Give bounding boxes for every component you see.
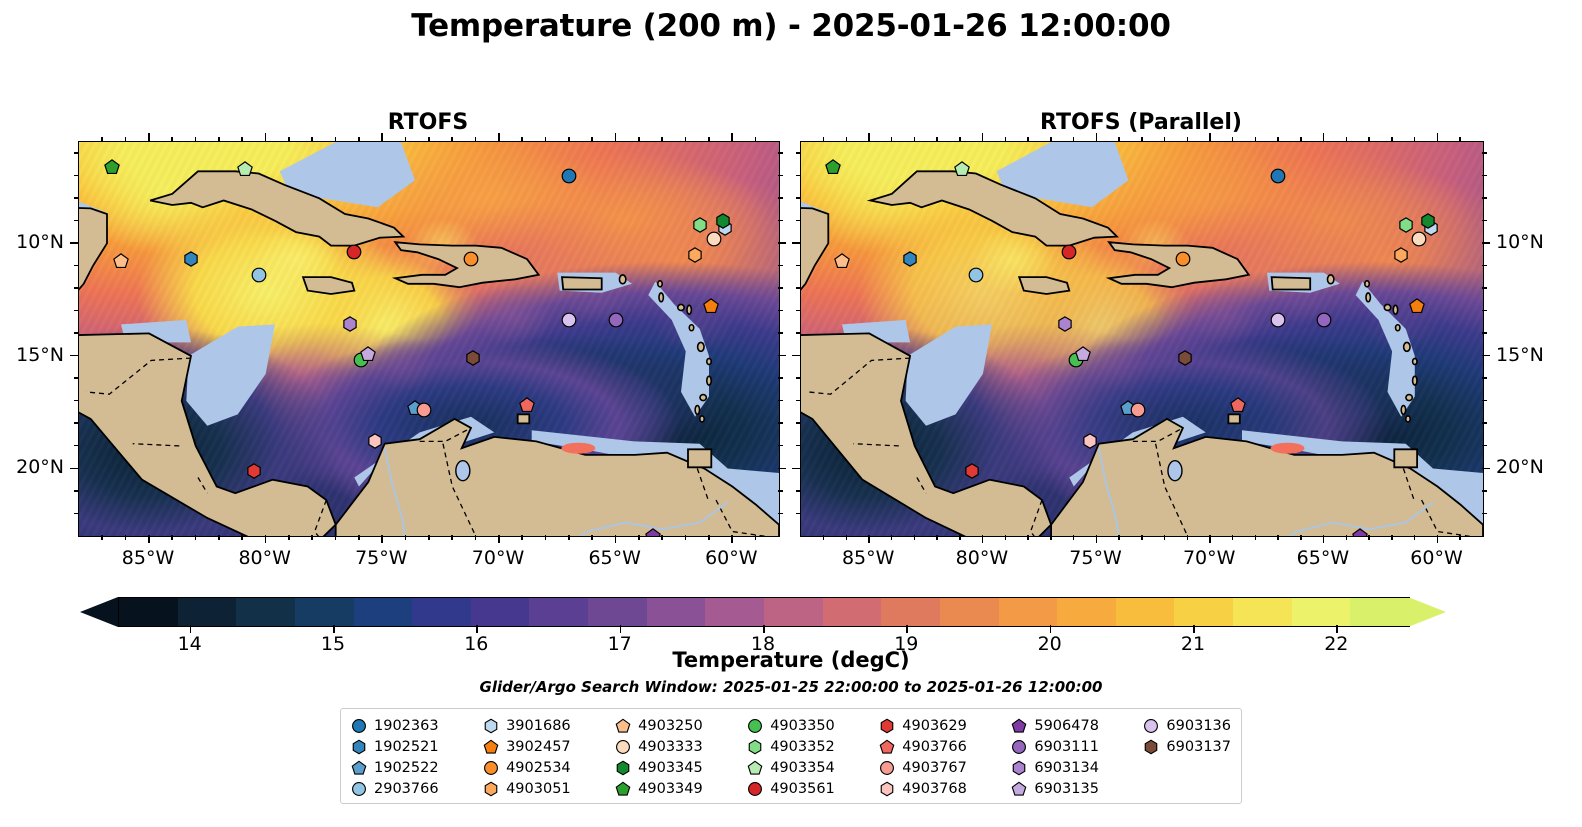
legend-label: 3902457 xyxy=(506,739,571,755)
platform-marker-3902457 xyxy=(703,298,720,315)
legend-label: 4903250 xyxy=(638,718,703,734)
x-tick xyxy=(568,137,570,142)
platform-marker-4903349 xyxy=(103,158,120,175)
legend-item-1902363[interactable]: 1902363 xyxy=(351,715,483,736)
y-tick xyxy=(1482,400,1487,402)
x-tick xyxy=(685,535,687,540)
y-tick xyxy=(778,332,783,334)
x-tick xyxy=(311,535,313,540)
platform-marker-4903767 xyxy=(416,401,433,418)
legend-label: 4903766 xyxy=(902,739,967,755)
colorbar-tick xyxy=(1050,625,1052,633)
y-tick-label: 20°N xyxy=(1496,456,1544,478)
platform-marker-1902363 xyxy=(1270,167,1287,184)
legend-label: 3901686 xyxy=(506,718,571,734)
platform-marker-4903767 xyxy=(1129,401,1146,418)
x-tick-label: 70°W xyxy=(472,547,524,569)
colorbar-extend-high xyxy=(1408,597,1446,627)
legend-label: 4903051 xyxy=(506,781,571,797)
x-tick xyxy=(311,137,313,142)
platform-marker-6903136 xyxy=(561,311,578,328)
legend-item-4903345[interactable]: 4903345 xyxy=(615,757,747,778)
x-tick xyxy=(1368,137,1370,142)
legend-marker-circle-icon xyxy=(351,718,367,734)
x-tick xyxy=(568,535,570,540)
y-tick xyxy=(74,400,79,402)
legend-label: 1902522 xyxy=(374,760,439,776)
x-tick xyxy=(1187,535,1189,540)
y-tick xyxy=(70,468,78,470)
legend-item-6903111[interactable]: 6903111 xyxy=(1011,736,1143,757)
colorbar-segment xyxy=(412,598,471,626)
platform-marker-1902521 xyxy=(183,251,200,268)
figure-root: Temperature (200 m) - 2025-01-26 12:00:0… xyxy=(0,0,1582,827)
x-tick xyxy=(545,137,547,142)
colorbar-segment xyxy=(354,598,413,626)
x-tick xyxy=(195,137,197,142)
colorbar-tick xyxy=(476,625,478,633)
x-tick xyxy=(335,535,337,540)
x-tick xyxy=(936,535,938,540)
legend-item-6903137[interactable]: 6903137 xyxy=(1143,736,1231,757)
x-tick xyxy=(1232,137,1234,142)
y-tick xyxy=(796,400,801,402)
platform-marker-4903354 xyxy=(954,161,971,178)
legend-marker-pentagon-icon xyxy=(483,739,499,755)
x-tick xyxy=(1027,137,1029,142)
x-tick xyxy=(498,535,500,543)
x-tick xyxy=(1255,535,1257,540)
y-tick-label: 10°N xyxy=(16,231,64,253)
y-tick xyxy=(74,332,79,334)
y-tick xyxy=(796,220,801,222)
y-tick xyxy=(778,513,783,515)
platform-marker-4903766 xyxy=(519,397,536,414)
colorbar-tick xyxy=(1336,625,1338,633)
x-tick xyxy=(661,535,663,540)
x-tick xyxy=(335,137,337,142)
x-tick xyxy=(1391,535,1393,540)
x-tick xyxy=(101,137,103,142)
platform-marker-4902534 xyxy=(463,251,480,268)
y-tick xyxy=(74,422,79,424)
x-tick xyxy=(1437,535,1439,543)
x-tick xyxy=(936,137,938,142)
platform-marker-6903134 xyxy=(341,316,358,333)
x-tick xyxy=(1209,535,1211,543)
legend-label: 4903768 xyxy=(902,781,967,797)
x-tick xyxy=(1073,137,1075,142)
x-tick xyxy=(1164,137,1166,142)
y-tick xyxy=(778,490,783,492)
platform-marker-4903354 xyxy=(236,161,253,178)
x-tick xyxy=(171,137,173,142)
x-tick xyxy=(475,137,477,142)
y-tick xyxy=(778,287,783,289)
x-tick xyxy=(868,535,870,543)
legend-item-4903766[interactable]: 4903766 xyxy=(879,736,1011,757)
legend-marker-pentagon-icon xyxy=(1011,781,1027,797)
platform-marker-4903561 xyxy=(346,244,363,261)
x-tick-label: 65°W xyxy=(1297,547,1349,569)
legend-label: 6903135 xyxy=(1034,781,1099,797)
x-tick xyxy=(1187,137,1189,142)
colorbar-segment xyxy=(1292,598,1351,626)
y-tick xyxy=(778,468,786,470)
figure-suptitle: Temperature (200 m) - 2025-01-26 12:00:0… xyxy=(0,8,1582,44)
colorbar-segment xyxy=(940,598,999,626)
x-tick xyxy=(685,137,687,142)
colorbar-segment xyxy=(236,598,295,626)
legend-item-3901686[interactable]: 3901686 xyxy=(483,715,615,736)
y-tick xyxy=(1482,265,1487,267)
legend-marker-hexagon-icon xyxy=(747,739,763,755)
x-tick xyxy=(125,137,127,142)
x-tick xyxy=(1050,137,1052,142)
y-tick xyxy=(1482,377,1487,379)
y-tick xyxy=(796,377,801,379)
x-tick xyxy=(288,137,290,142)
legend-item-4903350[interactable]: 4903350 xyxy=(747,715,879,736)
x-tick xyxy=(358,535,360,540)
x-tick xyxy=(1459,137,1461,142)
x-tick xyxy=(1414,535,1416,540)
colorbar-tick xyxy=(763,625,765,633)
legend-label: 4903629 xyxy=(902,718,967,734)
y-tick xyxy=(1482,287,1487,289)
colorbar-segment xyxy=(1233,598,1292,626)
x-tick xyxy=(959,137,961,142)
legend-marker-pentagon-icon xyxy=(615,718,631,734)
x-tick xyxy=(591,137,593,142)
x-tick xyxy=(1005,535,1007,540)
x-tick xyxy=(868,133,870,141)
x-tick xyxy=(661,137,663,142)
colorbar-segment xyxy=(588,598,647,626)
x-tick xyxy=(265,133,267,141)
x-tick-label: 65°W xyxy=(588,547,640,569)
platform-marker-5906478 xyxy=(645,528,662,538)
legend-item-4903768[interactable]: 4903768 xyxy=(879,778,1011,799)
panel-title-rtofs-parallel: RTOFS (Parallel) xyxy=(800,110,1482,135)
legend-item-4903629[interactable]: 4903629 xyxy=(879,715,1011,736)
legend-label: 4902534 xyxy=(506,760,571,776)
colorbar-segment xyxy=(764,598,823,626)
x-tick xyxy=(1414,137,1416,142)
y-tick xyxy=(796,332,801,334)
x-tick xyxy=(731,535,733,543)
legend-marker-hexagon-icon xyxy=(351,739,367,755)
x-tick xyxy=(846,535,848,540)
colorbar-tick xyxy=(190,625,192,633)
y-tick xyxy=(1482,152,1487,154)
x-tick xyxy=(1073,535,1075,540)
y-tick xyxy=(778,220,783,222)
legend-label: 4903349 xyxy=(638,781,703,797)
colorbar-segment xyxy=(1350,598,1409,626)
platform-marker-4903250 xyxy=(113,253,130,270)
colorbar-segment xyxy=(647,598,706,626)
x-tick xyxy=(381,535,383,543)
legend-marker-circle-icon xyxy=(483,760,499,776)
legend-item-4903352[interactable]: 4903352 xyxy=(747,736,879,757)
x-tick xyxy=(428,535,430,540)
x-tick xyxy=(475,535,477,540)
y-tick xyxy=(1482,332,1487,334)
y-tick xyxy=(1482,197,1487,199)
x-tick xyxy=(1141,137,1143,142)
legend-marker-circle-icon xyxy=(351,781,367,797)
y-tick xyxy=(796,175,801,177)
y-tick xyxy=(1482,175,1487,177)
legend-label: 4903333 xyxy=(638,739,703,755)
legend-label: 4903345 xyxy=(638,760,703,776)
legend-label: 4903350 xyxy=(770,718,835,734)
x-tick xyxy=(982,535,984,543)
x-tick xyxy=(1050,535,1052,540)
x-tick xyxy=(1323,133,1325,141)
map-panel-rtofs[interactable] xyxy=(78,141,780,537)
legend-item-6903136[interactable]: 6903136 xyxy=(1143,715,1231,736)
colorbar-segment xyxy=(471,598,530,626)
legend-item-3902457[interactable]: 3902457 xyxy=(483,736,615,757)
x-tick xyxy=(959,535,961,540)
y-tick-label: 10°N xyxy=(1496,231,1544,253)
x-tick-label: 80°W xyxy=(238,547,290,569)
x-tick xyxy=(1118,535,1120,540)
y-tick xyxy=(74,220,79,222)
x-tick-label: 85°W xyxy=(122,547,174,569)
x-tick xyxy=(125,535,127,540)
colorbar-segment xyxy=(119,598,178,626)
x-tick xyxy=(1232,535,1234,540)
x-tick xyxy=(591,535,593,540)
x-tick xyxy=(218,137,220,142)
x-tick xyxy=(1277,535,1279,540)
y-tick xyxy=(778,242,786,244)
y-tick xyxy=(792,468,800,470)
legend-marker-pentagon-icon xyxy=(615,781,631,797)
x-tick xyxy=(731,133,733,141)
y-tick xyxy=(796,265,801,267)
x-tick xyxy=(1277,137,1279,142)
legend-marker-hexagon-icon xyxy=(483,781,499,797)
legend-label: 4903561 xyxy=(770,781,835,797)
legend-marker-pentagon-icon xyxy=(1011,718,1027,734)
platform-marker-6903137 xyxy=(1177,350,1194,367)
platform-marker-2903766 xyxy=(250,266,267,283)
x-tick xyxy=(1459,535,1461,540)
legend-item-4903333[interactable]: 4903333 xyxy=(615,736,747,757)
x-tick xyxy=(241,535,243,540)
y-tick xyxy=(792,355,800,357)
platform-marker-4903768 xyxy=(367,433,384,450)
x-tick xyxy=(1096,535,1098,543)
y-tick xyxy=(792,242,800,244)
x-tick-label: 60°W xyxy=(705,547,757,569)
y-tick xyxy=(74,175,79,177)
legend-marker-circle-icon xyxy=(879,760,895,776)
x-tick xyxy=(358,137,360,142)
legend-marker-circle-icon xyxy=(1011,739,1027,755)
platform-marker-4903352 xyxy=(691,217,708,234)
platform-marker-3902457 xyxy=(1409,298,1426,315)
x-tick xyxy=(451,535,453,540)
x-tick-label: 75°W xyxy=(355,547,407,569)
y-tick xyxy=(74,445,79,447)
x-tick xyxy=(891,137,893,142)
map-panel-rtofs-parallel[interactable] xyxy=(800,141,1484,537)
legend-label: 5906478 xyxy=(1034,718,1099,734)
x-tick xyxy=(1209,133,1211,141)
platform-marker-4903345 xyxy=(715,212,732,229)
colorbar-tick xyxy=(1193,625,1195,633)
platform-marker-6903111 xyxy=(1315,311,1332,328)
y-tick xyxy=(778,422,783,424)
x-tick xyxy=(521,535,523,540)
legend-label: 2903766 xyxy=(374,781,439,797)
colorbar-tick xyxy=(906,625,908,633)
legend-item-2903766[interactable]: 2903766 xyxy=(351,778,483,799)
x-tick xyxy=(498,133,500,141)
y-tick xyxy=(1482,445,1487,447)
x-tick xyxy=(521,137,523,142)
colorbar-segment xyxy=(1057,598,1116,626)
x-tick xyxy=(405,137,407,142)
y-tick xyxy=(1482,242,1490,244)
x-tick xyxy=(451,137,453,142)
legend-marker-circle-icon xyxy=(1143,718,1159,734)
legend-item-1902522[interactable]: 1902522 xyxy=(351,757,483,778)
x-tick xyxy=(755,535,757,540)
platform-legend[interactable]: 1902363190252119025222903766390168639024… xyxy=(340,708,1242,804)
x-tick xyxy=(891,535,893,540)
platform-marker-4903629 xyxy=(246,462,263,479)
legend-marker-pentagon-icon xyxy=(351,760,367,776)
y-tick xyxy=(778,265,783,267)
x-tick xyxy=(148,535,150,543)
y-tick xyxy=(74,490,79,492)
legend-label: 6903134 xyxy=(1034,760,1099,776)
legend-marker-circle-icon xyxy=(615,739,631,755)
x-tick xyxy=(1118,137,1120,142)
platform-marker-1902363 xyxy=(561,167,578,184)
x-tick xyxy=(1391,137,1393,142)
x-tick xyxy=(1255,137,1257,142)
y-tick xyxy=(778,152,783,154)
panel-title-rtofs: RTOFS xyxy=(78,110,778,135)
legend-label: 6903111 xyxy=(1034,739,1099,755)
x-tick-label: 85°W xyxy=(842,547,894,569)
platform-marker-4903561 xyxy=(1061,244,1078,261)
x-tick xyxy=(1437,133,1439,141)
y-tick xyxy=(1482,310,1487,312)
colorbar-segment xyxy=(529,598,588,626)
legend-label: 6903136 xyxy=(1166,718,1231,734)
x-tick xyxy=(195,535,197,540)
y-tick xyxy=(74,197,79,199)
y-tick xyxy=(74,310,79,312)
y-tick xyxy=(1482,422,1487,424)
colorbar-segment xyxy=(295,598,354,626)
y-tick-label: 15°N xyxy=(16,344,64,366)
legend-item-1902521[interactable]: 1902521 xyxy=(351,736,483,757)
x-tick xyxy=(241,137,243,142)
x-tick xyxy=(545,535,547,540)
y-tick xyxy=(796,310,801,312)
x-tick xyxy=(914,535,916,540)
x-tick xyxy=(1346,535,1348,540)
legend-marker-hexagon-icon xyxy=(879,718,895,734)
legend-item-4903354[interactable]: 4903354 xyxy=(747,757,879,778)
x-tick xyxy=(1368,535,1370,540)
legend-item-4903051[interactable]: 4903051 xyxy=(483,778,615,799)
colorbar-segment xyxy=(1174,598,1233,626)
x-tick xyxy=(708,535,710,540)
legend-item-4903561[interactable]: 4903561 xyxy=(747,778,879,799)
x-tick xyxy=(638,535,640,540)
x-tick xyxy=(708,137,710,142)
colorbar-segment xyxy=(823,598,882,626)
x-tick xyxy=(288,535,290,540)
y-tick xyxy=(796,197,801,199)
y-tick xyxy=(778,377,783,379)
y-tick xyxy=(778,355,786,357)
legend-marker-hexagon-icon xyxy=(1011,760,1027,776)
x-tick xyxy=(101,535,103,540)
x-tick xyxy=(405,535,407,540)
y-tick xyxy=(74,287,79,289)
legend-item-4903250[interactable]: 4903250 xyxy=(615,715,747,736)
colorbar[interactable]: 141516171819202122 xyxy=(118,597,1408,625)
y-tick xyxy=(70,355,78,357)
x-tick xyxy=(1005,137,1007,142)
x-tick-label: 60°W xyxy=(1410,547,1462,569)
colorbar-segment xyxy=(1116,598,1175,626)
x-tick xyxy=(638,137,640,142)
y-tick xyxy=(796,422,801,424)
platform-marker-4903766 xyxy=(1229,397,1246,414)
y-tick-label: 20°N xyxy=(16,456,64,478)
legend-item-4902534[interactable]: 4902534 xyxy=(483,757,615,778)
x-tick xyxy=(1141,535,1143,540)
y-tick xyxy=(1482,490,1487,492)
legend-item-5906478[interactable]: 5906478 xyxy=(1011,715,1143,736)
x-tick xyxy=(265,535,267,543)
platform-marker-4902534 xyxy=(1174,251,1191,268)
y-tick xyxy=(778,400,783,402)
legend-item-6903135[interactable]: 6903135 xyxy=(1011,778,1143,799)
platform-marker-4903349 xyxy=(824,158,841,175)
y-tick xyxy=(1482,513,1487,515)
y-tick xyxy=(796,287,801,289)
legend-item-4903349[interactable]: 4903349 xyxy=(615,778,747,799)
x-tick xyxy=(1164,535,1166,540)
legend-marker-hexagon-icon xyxy=(615,760,631,776)
legend-item-4903767[interactable]: 4903767 xyxy=(879,757,1011,778)
y-tick xyxy=(796,152,801,154)
y-tick xyxy=(778,445,783,447)
x-tick xyxy=(1346,137,1348,142)
platform-marker-4903629 xyxy=(963,462,980,479)
legend-marker-pentagon-icon xyxy=(879,739,895,755)
y-tick xyxy=(74,265,79,267)
x-tick xyxy=(823,535,825,540)
colorbar-segment xyxy=(881,598,940,626)
legend-item-6903134[interactable]: 6903134 xyxy=(1011,757,1143,778)
y-tick xyxy=(778,197,783,199)
legend-marker-hexagon-icon xyxy=(879,781,895,797)
